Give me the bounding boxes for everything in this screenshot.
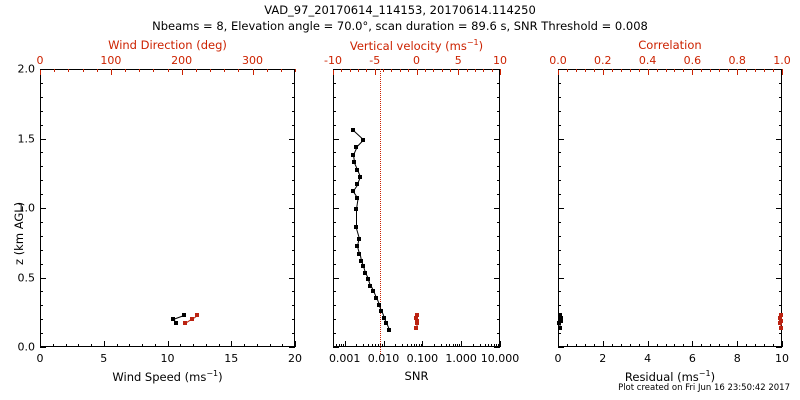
y-minortick — [558, 83, 561, 84]
x-minortick-top — [139, 69, 140, 72]
x-minortick-top — [576, 69, 577, 72]
y-minortick — [40, 194, 43, 195]
x-ticklabel-bottom: 0 — [37, 352, 44, 365]
y-minortick — [40, 69, 43, 70]
y-minortick — [497, 222, 500, 223]
y-minortick — [333, 194, 336, 195]
x-tick-bottom — [345, 341, 346, 347]
x-ticklabel-bottom: 2 — [599, 352, 606, 365]
y-minortick — [333, 250, 336, 251]
x-minortick-bottom — [416, 344, 417, 347]
y-minortick — [333, 208, 336, 209]
x-minortick-top — [612, 69, 613, 72]
x-minortick-top — [710, 69, 711, 72]
x-minortick-bottom — [755, 344, 756, 347]
x-minortick-top — [383, 69, 384, 72]
x-minortick-top — [692, 69, 693, 72]
data-point-wind-direction — [195, 313, 199, 317]
x-minortick-top — [666, 69, 667, 72]
y-minortick — [558, 236, 561, 237]
x-minortick-bottom — [434, 344, 435, 347]
plot-panel-snr — [333, 69, 500, 347]
x-minortick-bottom — [382, 344, 383, 347]
x-ticklabel-top: 10 — [493, 54, 507, 67]
data-point-snr — [354, 225, 358, 229]
y-minortick — [292, 278, 295, 279]
data-point-snr — [351, 128, 355, 132]
x-minortick-bottom — [411, 344, 412, 347]
x-minortick-bottom — [295, 344, 296, 347]
y-minortick — [292, 264, 295, 265]
data-point-vertical-velocity — [415, 313, 419, 317]
x-minortick-bottom — [368, 344, 369, 347]
x-minortick-bottom — [257, 344, 258, 347]
x-axis-title-bottom-wind: Wind Speed (ms−1) — [40, 369, 295, 384]
plot-canvas: VAD_97_20170614_114153, 20170614.114250 … — [0, 0, 800, 400]
x-minortick-bottom — [719, 344, 720, 347]
y-minortick — [779, 194, 782, 195]
y-minortick — [558, 69, 561, 70]
x-ticklabel-bottom: 1.000 — [445, 352, 477, 365]
x-minortick-top — [701, 69, 702, 72]
x-minortick-bottom — [480, 344, 481, 347]
y-minortick — [292, 111, 295, 112]
x-minortick-bottom — [491, 344, 492, 347]
x-minortick-bottom — [728, 344, 729, 347]
x-minortick-top — [224, 69, 225, 72]
y-minortick — [779, 180, 782, 181]
data-point-snr — [374, 296, 378, 300]
x-minortick-bottom — [282, 344, 283, 347]
x-minortick-bottom — [142, 344, 143, 347]
y-minortick — [497, 166, 500, 167]
x-minortick-top — [425, 69, 426, 72]
x-minortick-bottom — [449, 344, 450, 347]
x-minortick-top — [648, 69, 649, 72]
plot-timestamp-footer: Plot created on Fri Jun 16 23:50:42 2017 — [0, 384, 790, 393]
x-minortick-top — [603, 69, 604, 72]
x-minortick-bottom — [746, 344, 747, 347]
x-minortick-bottom — [612, 344, 613, 347]
x-minortick-bottom — [630, 344, 631, 347]
x-minortick-top — [125, 69, 126, 72]
data-point-snr — [387, 328, 391, 332]
x-minortick-top — [210, 69, 211, 72]
x-minortick-bottom — [395, 344, 396, 347]
x-minortick-bottom — [104, 344, 105, 347]
y-minortick — [40, 250, 43, 251]
x-minortick-bottom — [737, 344, 738, 347]
x-minortick-bottom — [446, 344, 447, 347]
y-minortick — [292, 125, 295, 126]
y-minortick — [558, 139, 561, 140]
y-minortick — [497, 278, 500, 279]
y-minortick — [779, 250, 782, 251]
data-point-snr — [357, 237, 361, 241]
page-title: VAD_97_20170614_114153, 20170614.114250 — [0, 5, 800, 17]
x-minortick-top — [341, 69, 342, 72]
y-minortick — [292, 152, 295, 153]
y-minortick — [40, 264, 43, 265]
y-minortick — [497, 347, 500, 348]
y-minortick — [497, 319, 500, 320]
y-minortick — [779, 222, 782, 223]
data-point-wind-direction — [183, 321, 187, 325]
x-minortick-bottom — [421, 344, 422, 347]
y-minortick — [333, 264, 336, 265]
x-minortick-bottom — [453, 344, 454, 347]
x-minortick-bottom — [117, 344, 118, 347]
x-tick-bottom — [461, 341, 462, 347]
x-minortick-bottom — [666, 344, 667, 347]
x-axis-title-bottom-residual: Residual (ms−1) — [558, 369, 782, 384]
data-point-snr — [359, 259, 363, 263]
x-minortick-top — [500, 69, 501, 72]
y-minortick — [497, 264, 500, 265]
data-point-wind-speed — [174, 321, 178, 325]
x-ticklabel-top: 1.0 — [773, 54, 791, 67]
x-minortick-top — [267, 69, 268, 72]
x-minortick-top — [728, 69, 729, 72]
data-point-wind-speed — [182, 313, 186, 317]
y-minortick — [497, 250, 500, 251]
y-minortick — [292, 250, 295, 251]
data-point-snr — [366, 277, 370, 281]
x-minortick-bottom — [473, 344, 474, 347]
y-minortick — [292, 166, 295, 167]
y-minortick — [779, 152, 782, 153]
y-minortick — [497, 291, 500, 292]
y-minortick — [40, 236, 43, 237]
x-ticklabel-top: 200 — [171, 54, 192, 67]
data-point-snr — [355, 182, 359, 186]
x-ticklabel-top: 5 — [455, 54, 462, 67]
x-ticklabel-bottom: 6 — [689, 352, 696, 365]
data-point-snr — [351, 189, 355, 193]
data-point-snr — [361, 264, 365, 268]
y-ticklabel: 1.5 — [5, 132, 35, 145]
y-minortick — [333, 333, 336, 334]
x-minortick-bottom — [485, 344, 486, 347]
x-minortick-bottom — [341, 344, 342, 347]
y-minortick — [40, 111, 43, 112]
x-ticklabel-top: 100 — [100, 54, 121, 67]
y-minortick — [558, 222, 561, 223]
y-minortick — [497, 139, 500, 140]
y-minortick — [333, 166, 336, 167]
y-minortick — [497, 111, 500, 112]
y-minortick — [558, 278, 561, 279]
y-minortick — [292, 97, 295, 98]
x-minortick-bottom — [692, 344, 693, 347]
y-minortick — [292, 69, 295, 70]
y-minortick — [333, 125, 336, 126]
x-minortick-top — [238, 69, 239, 72]
y-minortick — [40, 278, 43, 279]
x-minortick-top — [168, 69, 169, 72]
y-minortick — [497, 180, 500, 181]
y-minortick — [40, 152, 43, 153]
y-minortick — [333, 97, 336, 98]
x-minortick-top — [54, 69, 55, 72]
y-minortick — [40, 333, 43, 334]
x-ticklabel-bottom: 0.001 — [329, 352, 361, 365]
data-point-snr — [351, 153, 355, 157]
x-ticklabel-bottom: 20 — [288, 352, 302, 365]
y-ticklabel: 0.5 — [5, 271, 35, 284]
y-minortick — [558, 97, 561, 98]
x-minortick-top — [719, 69, 720, 72]
x-minortick-bottom — [764, 344, 765, 347]
y-minortick — [558, 250, 561, 251]
y-ticklabel: 2.0 — [5, 63, 35, 76]
x-minortick-bottom — [206, 344, 207, 347]
data-point-wind-speed — [171, 317, 175, 321]
y-minortick — [558, 291, 561, 292]
x-minortick-top — [782, 69, 783, 72]
y-minortick — [497, 152, 500, 153]
data-point-snr — [371, 289, 375, 293]
x-minortick-top — [567, 69, 568, 72]
x-minortick-bottom — [567, 344, 568, 347]
data-point-residual — [558, 326, 562, 330]
x-minortick-bottom — [488, 344, 489, 347]
y-minortick — [40, 208, 43, 209]
x-minortick-top — [97, 69, 98, 72]
x-minortick-top — [442, 69, 443, 72]
x-ticklabel-top: -5 — [369, 54, 380, 67]
x-minortick-bottom — [683, 344, 684, 347]
x-minortick-bottom — [168, 344, 169, 347]
x-minortick-bottom — [244, 344, 245, 347]
x-minortick-top — [375, 69, 376, 72]
y-minortick — [333, 69, 336, 70]
y-minortick — [497, 97, 500, 98]
x-minortick-bottom — [576, 344, 577, 347]
x-minortick-bottom — [594, 344, 595, 347]
x-ticklabel-top: 0.8 — [728, 54, 746, 67]
y-minortick — [497, 83, 500, 84]
y-minortick — [558, 152, 561, 153]
x-minortick-top — [196, 69, 197, 72]
data-point-snr — [352, 160, 356, 164]
y-minortick — [779, 69, 782, 70]
data-point-residual — [558, 313, 562, 317]
x-minortick-top — [83, 69, 84, 72]
y-minortick — [497, 125, 500, 126]
x-minortick-top — [417, 69, 418, 72]
x-minortick-top — [458, 69, 459, 72]
x-minortick-bottom — [53, 344, 54, 347]
x-minortick-top — [358, 69, 359, 72]
y-minortick — [40, 347, 43, 348]
x-minortick-top — [391, 69, 392, 72]
y-minortick — [497, 208, 500, 209]
y-minortick — [40, 291, 43, 292]
y-minortick — [40, 166, 43, 167]
data-point-snr — [361, 138, 365, 142]
data-point-vertical-velocity — [414, 326, 418, 330]
y-minortick — [497, 194, 500, 195]
x-minortick-bottom — [363, 344, 364, 347]
x-minortick-top — [350, 69, 351, 72]
y-minortick — [333, 111, 336, 112]
scan-parameters-subtitle: Nbeams = 8, Elevation angle = 70.0°, sca… — [0, 21, 800, 33]
y-ticklabel: 1.0 — [5, 202, 35, 215]
x-minortick-bottom — [674, 344, 675, 347]
y-minortick — [40, 97, 43, 98]
x-minortick-bottom — [180, 344, 181, 347]
y-minortick — [292, 319, 295, 320]
y-minortick — [333, 347, 336, 348]
data-point-snr — [355, 196, 359, 200]
x-minortick-top — [630, 69, 631, 72]
y-minortick — [779, 166, 782, 167]
y-minortick — [558, 208, 561, 209]
x-minortick-bottom — [378, 344, 379, 347]
y-minortick — [558, 125, 561, 126]
y-minortick — [333, 319, 336, 320]
x-minortick-top — [764, 69, 765, 72]
y-minortick — [292, 83, 295, 84]
y-minortick — [292, 139, 295, 140]
y-minortick — [333, 305, 336, 306]
y-minortick — [779, 333, 782, 334]
x-minortick-bottom — [657, 344, 658, 347]
y-minortick — [497, 69, 500, 70]
x-minortick-top — [68, 69, 69, 72]
x-minortick-top — [683, 69, 684, 72]
y-minortick — [292, 333, 295, 334]
x-minortick-bottom — [603, 344, 604, 347]
x-minortick-top — [492, 69, 493, 72]
y-minortick — [779, 291, 782, 292]
data-point-snr — [384, 321, 388, 325]
x-minortick-bottom — [710, 344, 711, 347]
x-minortick-top — [467, 69, 468, 72]
x-minortick-top — [153, 69, 154, 72]
x-minortick-bottom — [455, 344, 456, 347]
y-minortick — [40, 83, 43, 84]
x-minortick-bottom — [585, 344, 586, 347]
y-minortick — [40, 125, 43, 126]
x-minortick-top — [639, 69, 640, 72]
x-tick-bottom — [500, 341, 501, 347]
y-minortick — [779, 139, 782, 140]
data-point-snr — [355, 244, 359, 248]
y-minortick — [558, 347, 561, 348]
x-tick-bottom — [384, 341, 385, 347]
x-minortick-bottom — [129, 344, 130, 347]
x-minortick-top — [111, 69, 112, 72]
y-minortick — [292, 208, 295, 209]
y-minortick — [333, 152, 336, 153]
x-minortick-top — [433, 69, 434, 72]
y-minortick — [558, 166, 561, 167]
data-point-snr — [355, 168, 359, 172]
x-ticklabel-bottom: 10.000 — [481, 352, 520, 365]
x-minortick-top — [737, 69, 738, 72]
x-minortick-top — [594, 69, 595, 72]
x-minortick-bottom — [343, 344, 344, 347]
y-minortick — [333, 83, 336, 84]
y-minortick — [292, 180, 295, 181]
y-minortick — [40, 180, 43, 181]
x-minortick-bottom — [78, 344, 79, 347]
x-ticklabel-top: 0 — [413, 54, 420, 67]
x-ticklabel-top: 0 — [37, 54, 44, 67]
data-point-snr — [377, 303, 381, 307]
x-minortick-bottom — [419, 344, 420, 347]
y-minortick — [333, 236, 336, 237]
y-minortick — [333, 291, 336, 292]
x-minortick-top — [746, 69, 747, 72]
x-ticklabel-top: 300 — [242, 54, 263, 67]
y-minortick — [558, 180, 561, 181]
x-ticklabel-bottom: 0 — [555, 352, 562, 365]
x-minortick-bottom — [457, 344, 458, 347]
x-ticklabel-bottom: 15 — [224, 352, 238, 365]
x-ticklabel-top: 0.4 — [639, 54, 657, 67]
y-minortick — [40, 139, 43, 140]
y-minortick — [779, 347, 782, 348]
x-axis-title-top-residual: Correlation — [558, 38, 782, 52]
data-point-snr — [379, 309, 383, 313]
y-minortick — [779, 236, 782, 237]
y-minortick — [292, 347, 295, 348]
x-axis-title-top-snr: Vertical velocity (ms−1) — [333, 38, 500, 53]
y-minortick — [558, 111, 561, 112]
y-minortick — [779, 278, 782, 279]
y-minortick — [779, 208, 782, 209]
x-minortick-bottom — [407, 344, 408, 347]
x-minortick-top — [585, 69, 586, 72]
x-minortick-top — [657, 69, 658, 72]
y-minortick — [292, 194, 295, 195]
data-point-snr — [354, 145, 358, 149]
y-minortick — [333, 180, 336, 181]
x-minortick-bottom — [193, 344, 194, 347]
x-ticklabel-bottom: 0.100 — [407, 352, 439, 365]
x-minortick-top — [773, 69, 774, 72]
x-axis-title-bottom-snr: SNR — [333, 369, 500, 383]
x-axis-title-top-wind: Wind Direction (deg) — [40, 38, 295, 52]
y-minortick — [292, 291, 295, 292]
data-point-snr — [357, 252, 361, 256]
y-minortick — [558, 305, 561, 306]
y-minortick — [558, 194, 561, 195]
x-ticklabel-bottom: 0.010 — [368, 352, 400, 365]
x-minortick-bottom — [701, 344, 702, 347]
data-point-snr — [358, 175, 362, 179]
x-minortick-bottom — [639, 344, 640, 347]
y-minortick — [292, 236, 295, 237]
x-minortick-top — [281, 69, 282, 72]
x-minortick-bottom — [459, 344, 460, 347]
plot-panel-wind — [40, 69, 295, 347]
x-minortick-bottom — [648, 344, 649, 347]
x-minortick-bottom — [402, 344, 403, 347]
x-ticklabel-bottom: 10 — [161, 352, 175, 365]
x-minortick-bottom — [231, 344, 232, 347]
y-minortick — [497, 333, 500, 334]
y-minortick — [779, 111, 782, 112]
plot-panel-residual — [558, 69, 782, 347]
y-minortick — [779, 97, 782, 98]
y-minortick — [40, 222, 43, 223]
x-minortick-bottom — [155, 344, 156, 347]
x-ticklabel-bottom: 10 — [775, 352, 789, 365]
